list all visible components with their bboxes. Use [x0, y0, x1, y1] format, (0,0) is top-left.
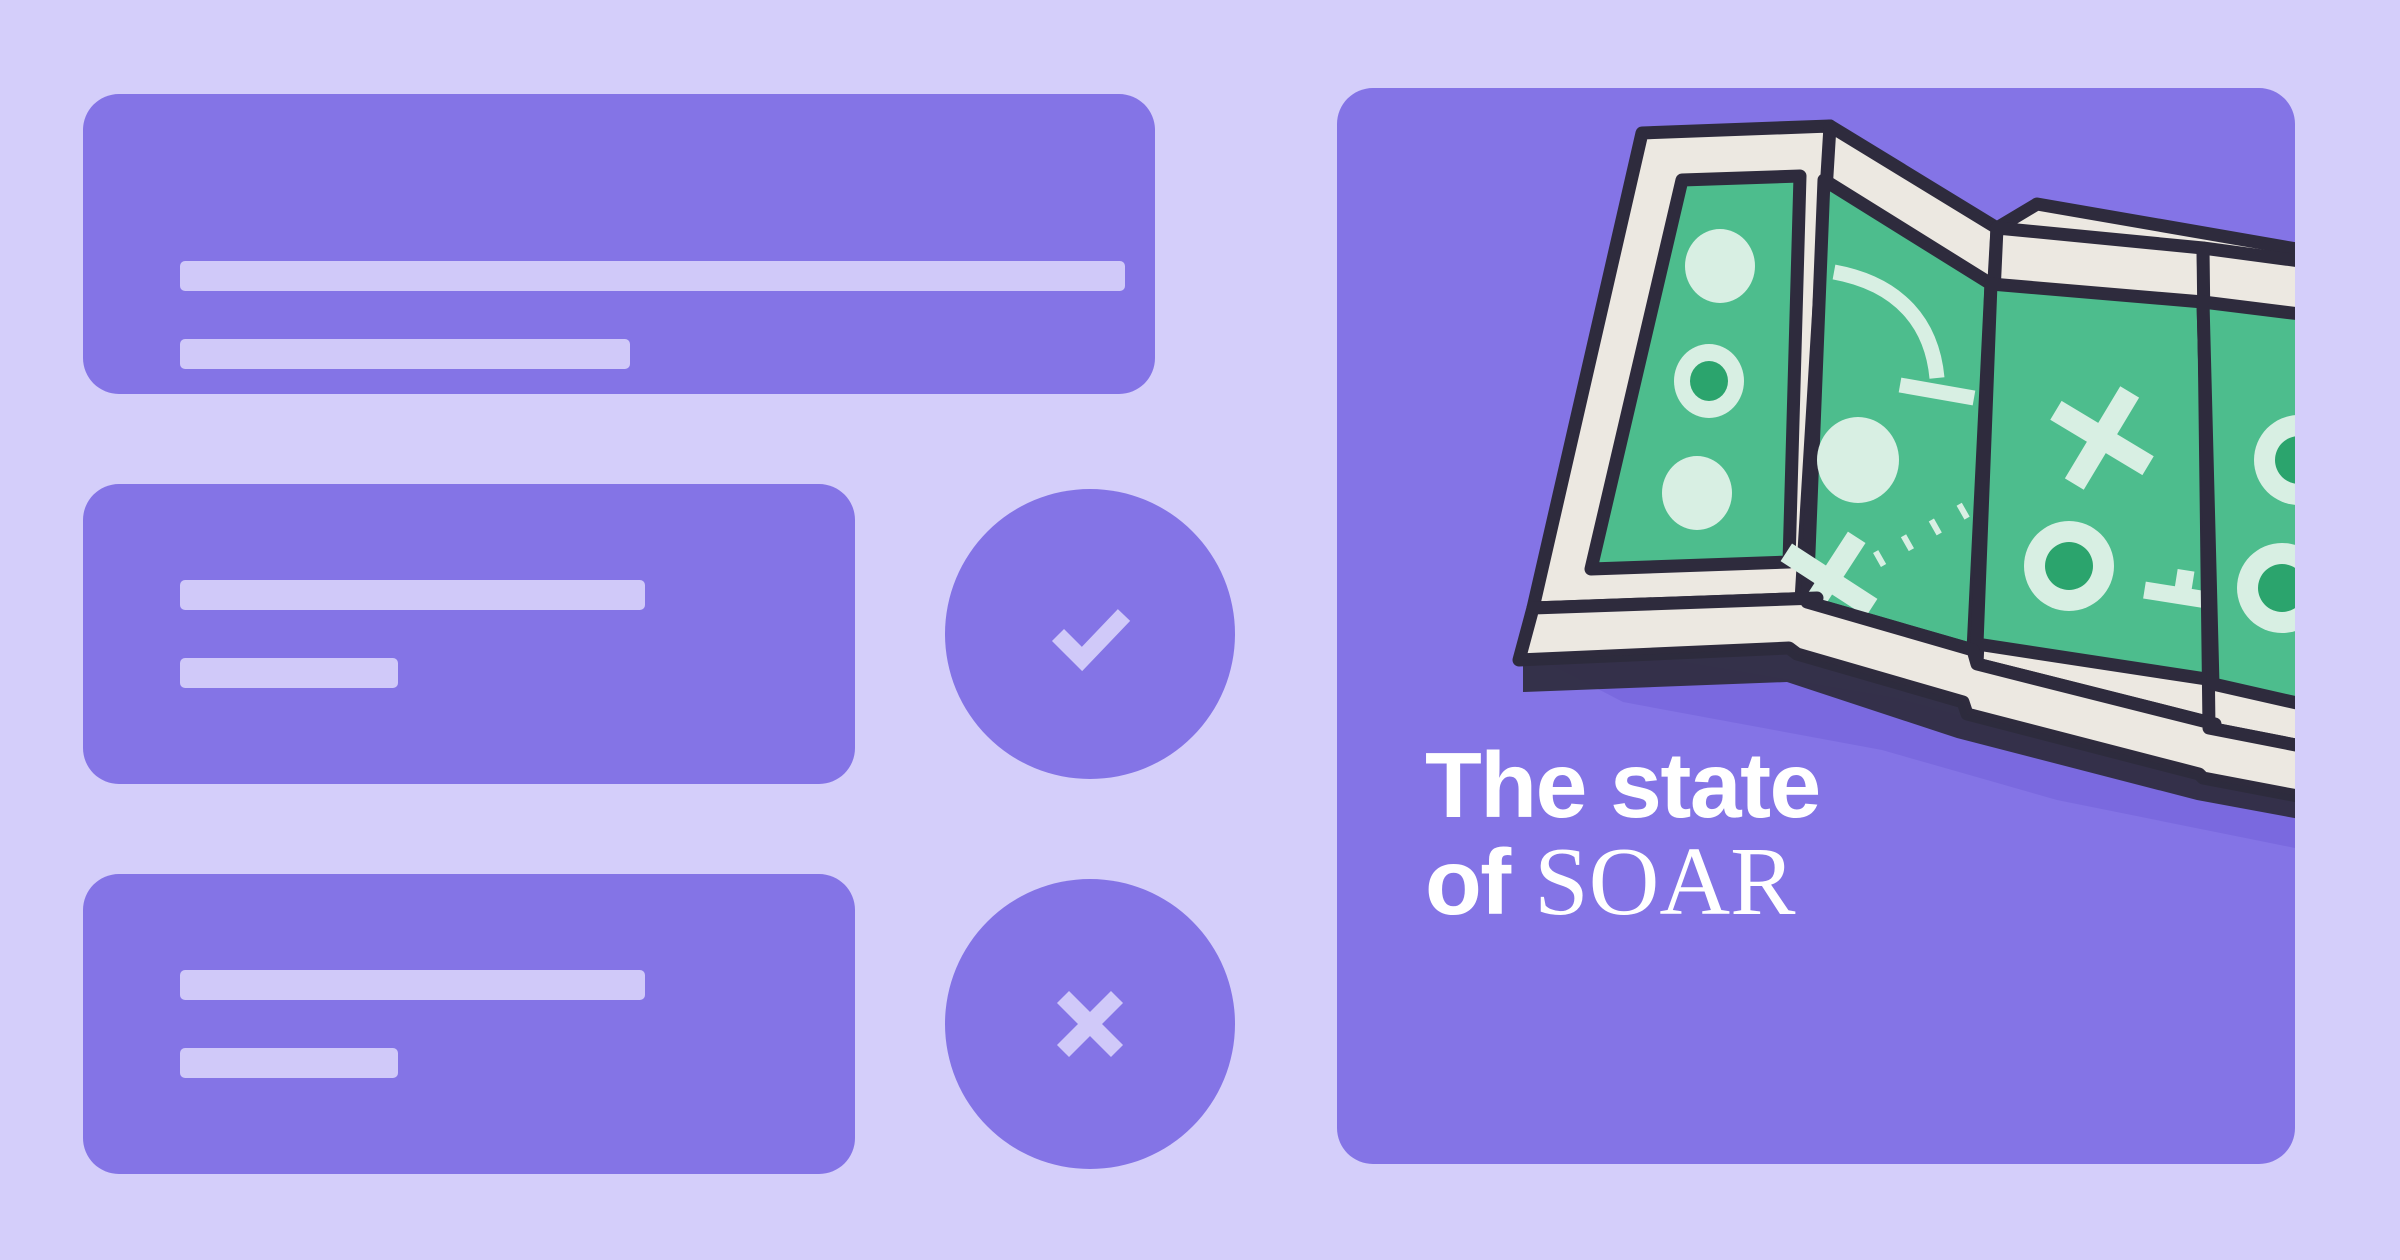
placeholder-line-short — [180, 339, 630, 369]
page-title: The state of SOAR — [1425, 738, 2285, 933]
map-marker-x — [1786, 537, 1871, 622]
status-approved-button[interactable] — [945, 489, 1235, 779]
map-panel-3-paper — [1977, 228, 2215, 724]
placeholder-card-1[interactable] — [83, 94, 1155, 394]
page-canvas: The state of SOAR — [0, 0, 2400, 1260]
placeholder-line-short — [180, 658, 398, 688]
placeholder-line-long — [180, 580, 645, 610]
map-marker-x — [2056, 392, 2148, 484]
placeholder-line-long — [180, 970, 645, 1000]
status-rejected-button[interactable] — [945, 879, 1235, 1169]
close-icon — [1025, 959, 1155, 1089]
map-panel-2-green — [1807, 180, 1991, 650]
map-panel-2-paper — [1801, 126, 1997, 648]
map-fold-top — [1997, 204, 2295, 284]
check-icon — [1025, 569, 1155, 699]
map-panel-1-paper — [1533, 126, 1830, 608]
title-line-2: of SOAR — [1425, 833, 2285, 933]
folded-map-icon — [1337, 88, 2295, 1164]
map-marker-circle-filled — [1685, 229, 1755, 303]
title-prefix: of — [1425, 830, 1534, 934]
placeholder-card-2[interactable] — [83, 484, 855, 784]
title-brand: SOAR — [1534, 828, 1795, 936]
placeholder-card-3[interactable] — [83, 874, 855, 1174]
placeholder-line-short — [180, 1048, 398, 1078]
map-marker-arrow-curve — [1834, 272, 1974, 398]
map-marker-pin — [2144, 564, 2224, 606]
map-marker-circle-outline — [1674, 344, 1744, 418]
map-panel-1-green — [1591, 176, 1800, 569]
map-marker-circle-filled — [1662, 456, 1732, 530]
report-cover-card[interactable]: The state of SOAR — [1337, 88, 2295, 1164]
map-marker-circle-outline — [2024, 521, 2114, 611]
map-marker-circle-outline — [2237, 543, 2295, 633]
map-panel-4-green — [2203, 302, 2295, 728]
map-route-dashed — [1877, 458, 2057, 560]
placeholder-line-long — [180, 261, 1125, 291]
title-line-1: The state — [1425, 738, 2285, 833]
map-panel-4-paper — [2203, 248, 2295, 768]
map-panel-3-green — [1977, 284, 2213, 680]
map-marker-circle-outline — [2254, 415, 2295, 505]
map-marker-circle-filled — [1817, 417, 1899, 503]
